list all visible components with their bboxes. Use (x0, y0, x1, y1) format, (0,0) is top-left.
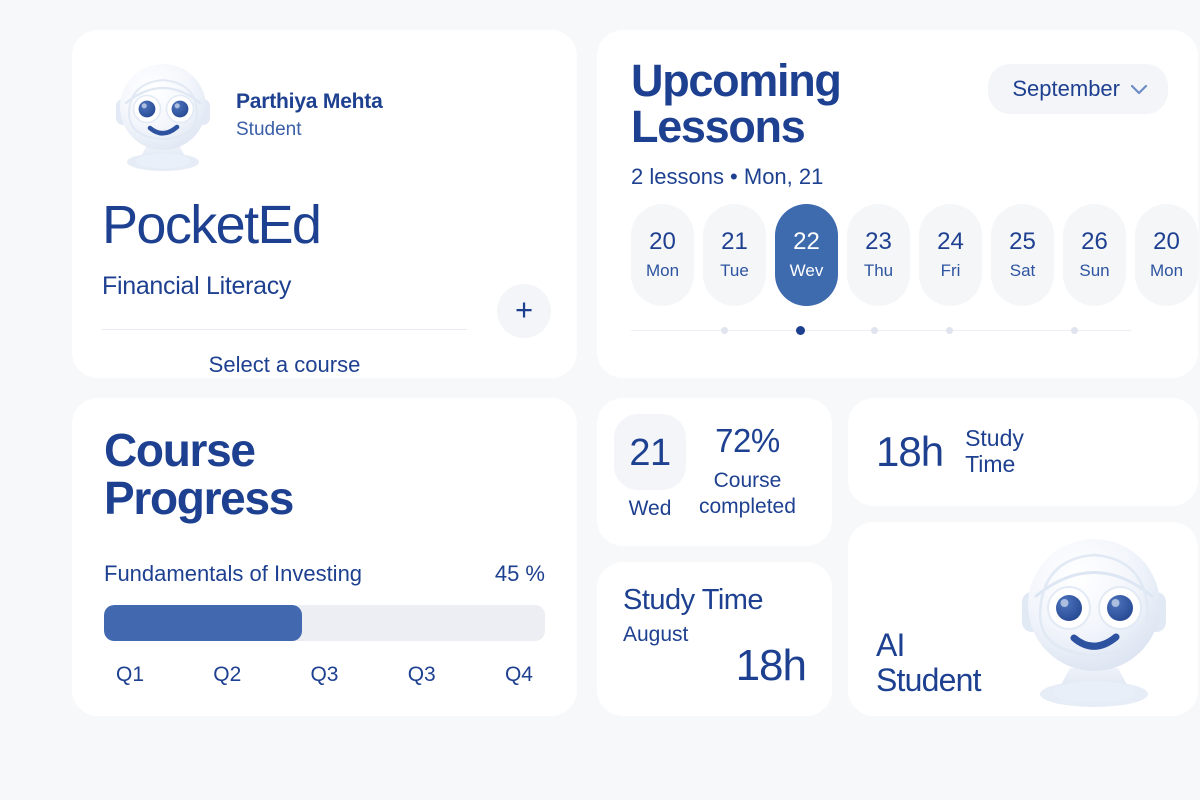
date-pill-weekday: Wev (790, 261, 824, 281)
lessons-header: Upcoming Lessons September (631, 58, 1198, 150)
robot-avatar-icon (102, 57, 222, 175)
current-day-of-week: Wed (629, 497, 672, 521)
date-pill-weekday: Thu (864, 261, 893, 281)
progress-bar-track[interactable] (104, 605, 545, 641)
date-pill-21-Tue[interactable]: 21Tue (703, 204, 766, 306)
scroll-dot-5[interactable] (1071, 327, 1078, 334)
profile-divider (102, 329, 467, 330)
date-pill-number: 22 (793, 228, 820, 256)
current-day-number: 21 (629, 432, 670, 475)
dashboard-page: Parthiya Mehta Student PocketEd Financia… (0, 0, 1200, 800)
study-time-month-card: Study Time August 18h (597, 562, 832, 716)
scroll-dot-2[interactable] (796, 326, 805, 335)
profile-role: Student (236, 117, 383, 144)
quarter-label-3: Q3 (310, 663, 338, 687)
current-day-block: 21 Wed (607, 416, 693, 528)
ai-student-label: AI Student (876, 628, 981, 698)
completion-label: Course completed (699, 468, 796, 521)
profile-identity: Parthiya Mehta Student (236, 89, 383, 144)
course-completed-card: 21 Wed 72% Course completed (597, 398, 832, 546)
ai-student-card[interactable]: AI Student (848, 522, 1198, 716)
date-pill-number: 20 (649, 228, 676, 256)
quarter-label-2: Q2 (213, 663, 241, 687)
date-pill-weekday: Tue (720, 261, 749, 281)
add-course-button[interactable]: + (497, 284, 551, 338)
upcoming-lessons-card: Upcoming Lessons September 2 lessons • M… (597, 30, 1198, 378)
study-time-title: Study Time (623, 584, 806, 617)
quarter-labels: Q1Q2Q3Q3Q4 (104, 663, 545, 687)
quarter-label-5: Q4 (505, 663, 533, 687)
date-pill-weekday: Fri (941, 261, 961, 281)
brand-title: PocketEd (102, 198, 547, 252)
progress-bar-fill (104, 605, 302, 641)
right-column: Upcoming Lessons September 2 lessons • M… (597, 30, 1198, 716)
profile-header: Parthiya Mehta Student (102, 56, 547, 176)
scroll-track (631, 330, 1131, 332)
brand-subtitle: Financial Literacy (102, 272, 547, 301)
date-pill-20-Mon[interactable]: 20Mon (1135, 204, 1198, 306)
stats-right-column: 18h Study Time AI Student (848, 398, 1198, 716)
date-pill-weekday: Mon (1150, 261, 1183, 281)
course-percent-label: 45 % (495, 561, 545, 587)
date-pill-number: 23 (865, 228, 892, 256)
robot-avatar-icon (1006, 526, 1176, 714)
date-pill-weekday: Sat (1010, 261, 1036, 281)
completion-percent: 72% (715, 422, 780, 460)
course-progress-row: Fundamentals of Investing 45 % (104, 561, 545, 587)
upcoming-lessons-title: Upcoming Lessons (631, 58, 841, 150)
select-course-label[interactable]: Select a course (102, 352, 467, 378)
date-pill-number: 25 (1009, 228, 1036, 256)
date-pill-22-Wev[interactable]: 22Wev (775, 204, 838, 306)
profile-name: Parthiya Mehta (236, 89, 383, 115)
date-pill-number: 26 (1081, 228, 1108, 256)
scroll-dot-3[interactable] (871, 327, 878, 334)
stats-row: 21 Wed 72% Course completed Study Time A… (597, 398, 1198, 716)
course-progress-card: Course Progress Fundamentals of Investin… (72, 398, 577, 716)
study-time-hours: 18h (623, 641, 806, 691)
date-strip[interactable]: 20Mon21Tue22Wev23Thu24Fri25Sat26Sun20Mon (631, 204, 1198, 306)
date-pill-weekday: Sun (1079, 261, 1109, 281)
date-pill-24-Fri[interactable]: 24Fri (919, 204, 982, 306)
stats-left-column: 21 Wed 72% Course completed Study Time A… (597, 398, 832, 716)
total-hours-value: 18h (876, 428, 943, 476)
lessons-meta: 2 lessons • Mon, 21 (631, 164, 1198, 190)
date-pill-25-Sat[interactable]: 25Sat (991, 204, 1054, 306)
scroll-dot-4[interactable] (946, 327, 953, 334)
plus-icon: + (515, 294, 533, 325)
quarter-label-1: Q1 (116, 663, 144, 687)
profile-card: Parthiya Mehta Student PocketEd Financia… (72, 30, 577, 378)
date-scroll-indicator[interactable] (631, 324, 1131, 338)
dashboard-grid: Parthiya Mehta Student PocketEd Financia… (72, 30, 1128, 716)
date-pill-weekday: Mon (646, 261, 679, 281)
course-name-label: Fundamentals of Investing (104, 561, 362, 587)
date-pill-23-Thu[interactable]: 23Thu (847, 204, 910, 306)
date-pill-number: 21 (721, 228, 748, 256)
left-column: Parthiya Mehta Student PocketEd Financia… (72, 30, 577, 716)
date-pill-number: 24 (937, 228, 964, 256)
date-pill-number: 20 (1153, 228, 1180, 256)
date-pill-26-Sun[interactable]: 26Sun (1063, 204, 1126, 306)
chevron-down-icon (1130, 84, 1148, 95)
quarter-label-4: Q3 (408, 663, 436, 687)
completion-block: 72% Course completed (699, 416, 796, 521)
course-progress-title: Course Progress (104, 426, 545, 523)
date-pill-20-Mon[interactable]: 20Mon (631, 204, 694, 306)
study-time-total-card: 18h Study Time (848, 398, 1198, 506)
month-selector[interactable]: September (988, 64, 1168, 114)
month-selector-label: September (1012, 76, 1120, 102)
scroll-dot-1[interactable] (721, 327, 728, 334)
total-hours-label: Study Time (965, 426, 1024, 478)
